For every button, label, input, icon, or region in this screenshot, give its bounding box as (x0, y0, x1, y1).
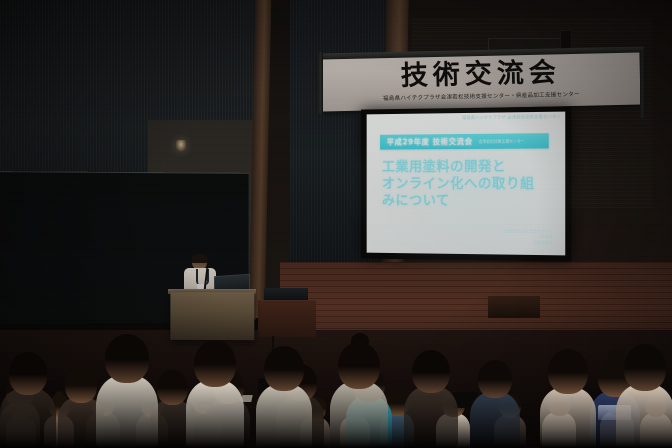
audience-member-torso (186, 380, 244, 448)
audience-member (330, 340, 388, 448)
slide-body-text: 工業用塗料の開発と オンライン化への取り組 みについて (382, 159, 553, 211)
slide-title-bar: 平成29年度 技術交流会 会津若松技術支援センター (380, 133, 549, 149)
hair-bun (351, 333, 369, 350)
wall-sconce-light-icon (176, 140, 186, 151)
audience-member (96, 330, 158, 448)
slide-header-note: 福島県ハイテクプラザ 会津若松技術支援センター (462, 114, 561, 121)
audience-member-head (412, 350, 450, 393)
audience-member-torso (0, 388, 56, 448)
audience-member-head (624, 344, 666, 391)
photo-scene: 技術交流会 福島県ハイテクプラザ会津若松技術支援センター・県産品加工支援センター… (0, 0, 672, 448)
audience-member-head (194, 340, 236, 387)
audience-member-torso (404, 386, 458, 448)
audience-member-head (9, 352, 47, 395)
audience-member-torso (616, 384, 672, 448)
audience-member (186, 338, 244, 448)
audience-member-torso (540, 387, 596, 448)
projection-screen: 福島県ハイテクプラザ 会津若松技術支援センター 平成29年度 技術交流会 会津若… (361, 106, 572, 261)
audience-member-head (478, 360, 512, 398)
audience-member-head (548, 349, 588, 394)
audience-member-torso (256, 384, 312, 448)
audience-member (540, 350, 596, 448)
audience-member-torso (330, 381, 388, 448)
banner-support-pole-right (640, 52, 645, 118)
presenter-hair (191, 254, 208, 263)
audience-member (0, 352, 56, 448)
audience-member (616, 344, 672, 448)
audience-member-torso (96, 375, 158, 448)
audience-member-head (105, 334, 149, 383)
slide-footer-line: 技術開発部 (504, 239, 553, 245)
audience-member-head (157, 370, 188, 405)
audience-member-torso (470, 392, 520, 448)
audience-member (470, 358, 520, 448)
slide-bar-title: 平成29年度 技術交流会 (387, 136, 473, 148)
audience-member (404, 348, 458, 448)
slide-footer: 会津若松技術支援センター 研究員 技術開発部 (504, 228, 553, 245)
audience-member-head (65, 367, 97, 403)
slide-bar-note: 会津若松技術支援センター (479, 138, 525, 144)
event-banner: 技術交流会 福島県ハイテクプラザ会津若松技術支援センター・県産品加工支援センター (321, 53, 640, 112)
audience-member-head (264, 346, 304, 391)
projection-screen-surface: 福島県ハイテクプラザ 会津若松技術支援センター 平成29年度 技術交流会 会津若… (367, 112, 566, 256)
slide-body-line: みについて (382, 193, 553, 211)
slide-body-line: オンライン化への取り組 (382, 176, 553, 193)
audience (0, 296, 672, 448)
audience-member (256, 344, 312, 448)
slide-body-line: 工業用塗料の開発と (382, 159, 553, 177)
banner-support-pole-left (318, 52, 323, 114)
